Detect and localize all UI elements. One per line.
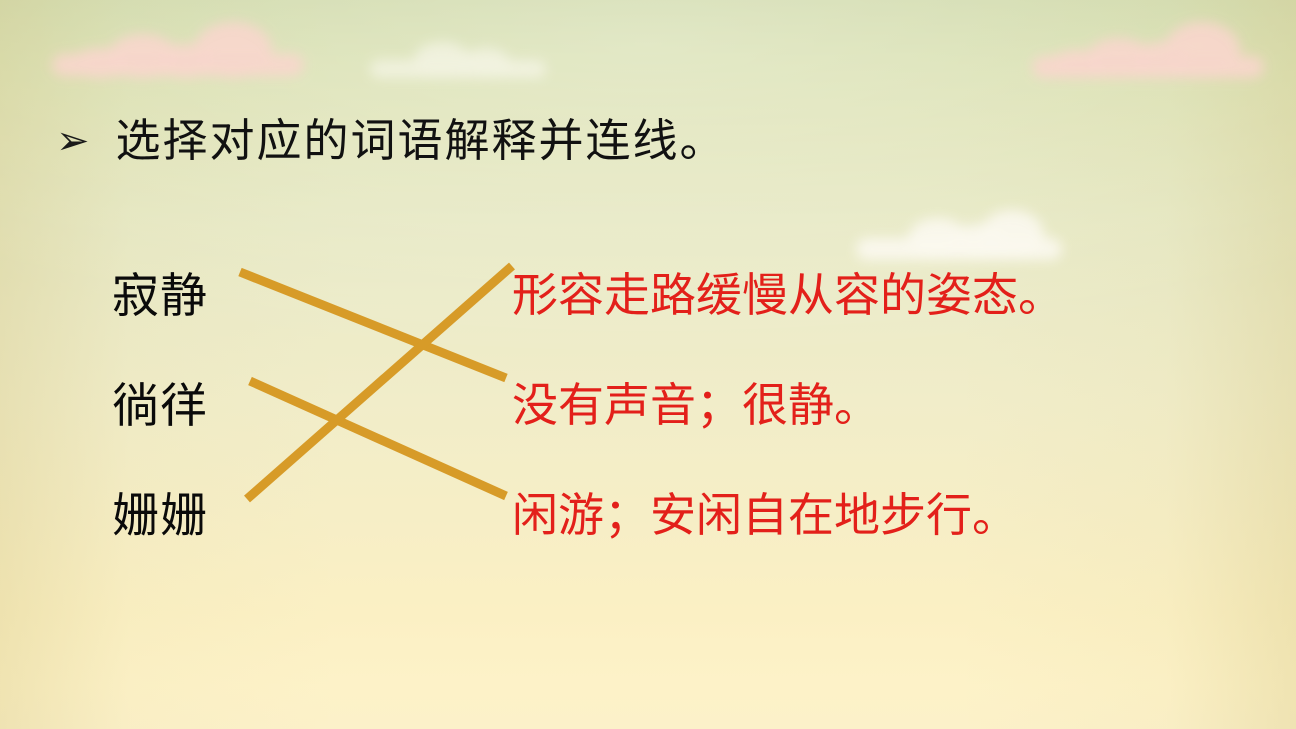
cloud-puff (1050, 50, 1102, 78)
definition-label: 没有声音；很静。 (512, 382, 880, 428)
definition-3[interactable]: 闲游；安闲自在地步行。 (512, 460, 1152, 570)
cloud-puff (414, 42, 470, 78)
cloud-icon-top-middle (370, 28, 550, 78)
definition-column: 形容走路缓慢从容的姿态。 没有声音；很静。 闲游；安闲自在地步行。 (512, 240, 1152, 570)
cloud-icon-top-right (1030, 12, 1270, 78)
definition-label: 形容走路缓慢从容的姿态。 (512, 272, 1064, 318)
definition-label: 闲游；安闲自在地步行。 (512, 492, 1018, 538)
arrow-bullet-icon: ➢ (56, 121, 90, 161)
cloud-base (370, 60, 546, 78)
vocabulary-word-column: 寂静 徜徉 姗姗 (112, 240, 272, 570)
definition-1[interactable]: 形容走路缓慢从容的姿态。 (512, 240, 1152, 350)
match-line-3[interactable] (247, 266, 512, 499)
definition-2[interactable]: 没有声音；很静。 (512, 350, 1152, 460)
match-line-2[interactable] (250, 381, 506, 496)
cloud-puff (194, 22, 272, 78)
instruction-text: 选择对应的词语解释并连线。 (116, 118, 727, 165)
vocabulary-word-3[interactable]: 姗姗 (112, 460, 272, 570)
cloud-base (52, 54, 304, 76)
cloud-puff (1086, 38, 1152, 78)
cloud-puff (1134, 42, 1188, 78)
cloud-puff (108, 34, 178, 78)
word-label: 姗姗 (112, 492, 208, 539)
vocabulary-word-2[interactable]: 徜徉 (112, 350, 272, 460)
cloud-puff (72, 48, 128, 78)
cloud-icon-top-left (48, 14, 308, 78)
cloud-base (1032, 56, 1264, 78)
word-label: 寂静 (112, 272, 208, 319)
cloud-puff (1164, 22, 1240, 78)
cloud-puff (158, 44, 214, 78)
slide-canvas: ➢ 选择对应的词语解释并连线。 寂静 徜徉 姗姗 形容走路缓慢从容的姿态。 没有… (0, 0, 1296, 729)
vocabulary-word-1[interactable]: 寂静 (112, 240, 272, 350)
word-label: 徜徉 (112, 382, 208, 429)
cloud-puff (462, 48, 510, 78)
instruction-heading: ➢ 选择对应的词语解释并连线。 (56, 118, 727, 165)
match-line-1[interactable] (240, 272, 506, 378)
